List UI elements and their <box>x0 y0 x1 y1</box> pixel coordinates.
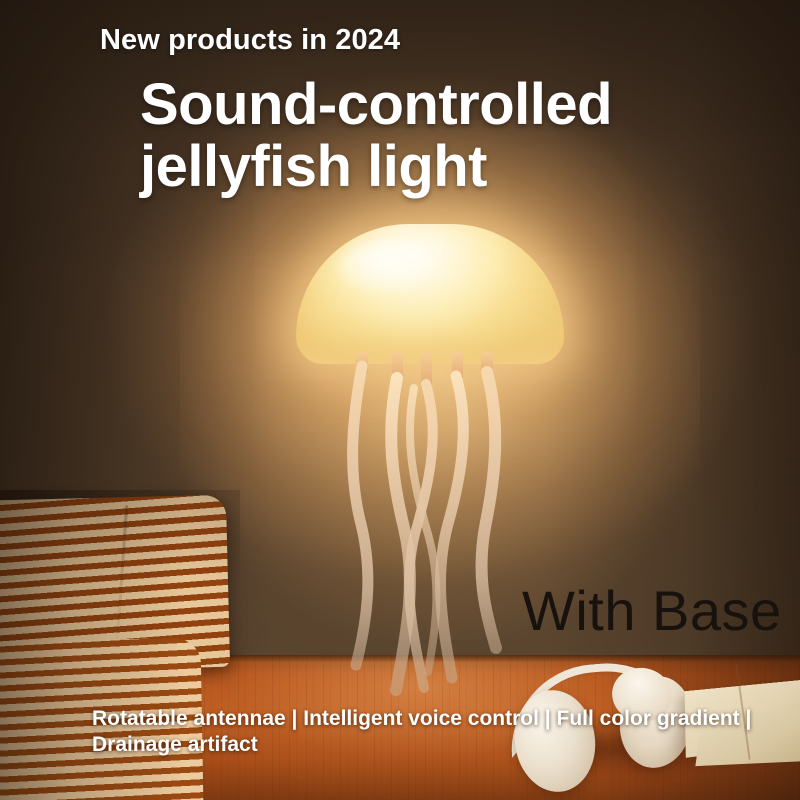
promo-feature-list: Rotatable antennae | Intelligent voice c… <box>92 706 752 757</box>
promo-headline-line-2: jellyfish light <box>140 136 612 198</box>
promo-headline: Sound-controlled jellyfish light <box>140 74 612 198</box>
tentacle-stub <box>421 352 432 386</box>
tentacle-stub <box>452 352 463 378</box>
tentacle-stub <box>356 352 368 374</box>
with-base-badge: With Base <box>522 578 782 643</box>
product-promo-image: New products in 2024 Sound-controlled je… <box>0 0 800 800</box>
promo-eyebrow: New products in 2024 <box>100 24 400 57</box>
promo-headline-line-1: Sound-controlled <box>140 74 612 136</box>
lamp-dome-highlight <box>338 240 448 298</box>
tentacle-stub <box>392 352 403 380</box>
tentacle-stub <box>481 352 493 374</box>
